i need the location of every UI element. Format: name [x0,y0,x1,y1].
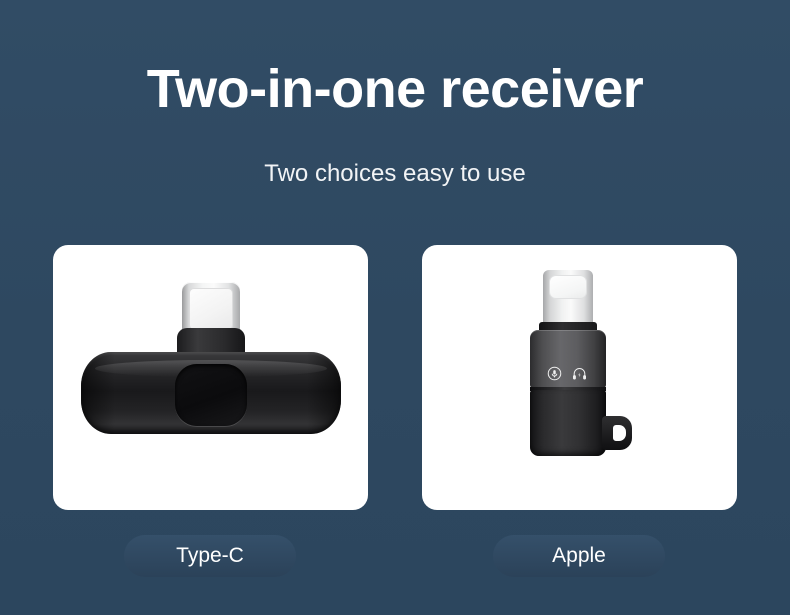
adapter-center-panel [175,364,247,426]
adapter-body [81,352,341,434]
adapter-upper-body [530,330,606,388]
adapter-icon-row [530,366,606,381]
lightning-plug-inner [549,275,587,299]
adapter-lower-body [530,390,606,456]
option-button-type-c[interactable]: Type-C [124,535,296,577]
option-button-apple[interactable]: Apple [493,535,665,577]
product-image-type-c [53,245,368,510]
usb-c-plug-icon [182,282,240,334]
page-title: Two-in-one receiver [0,58,790,120]
type-c-adapter-illustration [81,278,341,478]
keyring-loop [602,416,632,450]
page-subtitle: Two choices easy to use [0,160,790,189]
product-card-type-c[interactable] [53,245,368,510]
promo-poster: Two-in-one receiver Two choices easy to … [0,0,790,615]
lightning-plug-icon [543,270,593,326]
apple-adapter-illustration [522,270,652,485]
microphone-icon [547,366,562,381]
product-image-apple [422,245,737,510]
usb-c-plug-inner [189,288,233,330]
product-card-apple[interactable] [422,245,737,510]
keyring-loop-hole [613,425,626,441]
headphone-charge-icon [571,366,588,381]
